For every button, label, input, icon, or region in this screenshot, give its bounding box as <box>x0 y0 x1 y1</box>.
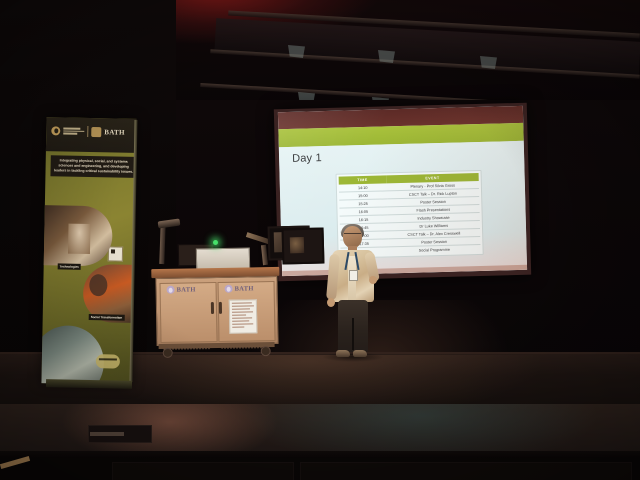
speaker-person <box>327 226 379 358</box>
stage-light-icon <box>288 45 305 58</box>
qr-code-icon <box>108 246 123 261</box>
cart-body: BATH BATH <box>155 276 278 346</box>
banner-photo-label: Social Transformation <box>89 314 125 321</box>
roller-banner: BATH Integrating physical, social, and s… <box>41 117 136 385</box>
name-badge <box>349 270 358 281</box>
shoe-right <box>353 350 367 357</box>
banner-photo-label: Technologies <box>58 263 81 269</box>
banner-footer-logo-icon <box>96 354 120 368</box>
bath-crest-icon <box>225 285 233 293</box>
banner-strapline: Integrating physical, social, and system… <box>50 155 136 178</box>
stage-front-lip <box>0 451 640 458</box>
bath-wordmark: BATH <box>235 285 254 292</box>
bath-logo-left-icon: BATH <box>167 285 196 294</box>
hand-right <box>369 276 377 284</box>
wall-vent-bar <box>90 432 124 436</box>
cell-event: Social Programme <box>388 245 481 255</box>
bath-wordmark: BATH <box>104 128 125 136</box>
hand-left <box>327 298 335 307</box>
bath-logo-right-icon: BATH <box>225 284 254 293</box>
banner-photo-lab <box>41 205 112 266</box>
stage-base-panel <box>112 462 294 480</box>
stage-light-icon <box>480 56 497 69</box>
head <box>343 226 362 248</box>
banner-header: BATH <box>46 117 137 153</box>
stage-light-icon <box>378 50 395 63</box>
lighting-rig-band <box>214 18 640 76</box>
logo-divider <box>87 126 88 137</box>
bath-crest-icon <box>167 286 175 294</box>
cart-door-handle-right[interactable] <box>219 302 222 314</box>
cart-door-handle-left[interactable] <box>211 302 214 314</box>
slide-title: Day 1 <box>292 152 322 165</box>
stage-base-panel <box>300 462 632 480</box>
glasses-icon <box>344 233 361 237</box>
shoe-left <box>336 350 350 357</box>
leg-separation <box>352 318 354 350</box>
bath-wordmark: BATH <box>177 286 196 293</box>
secondary-display <box>282 227 325 264</box>
banner-strapline-text: Integrating physical, social, and system… <box>53 158 133 175</box>
bath-crest-icon <box>91 127 101 137</box>
power-led-indicator-icon[interactable] <box>213 240 218 245</box>
auditorium-scene: BATH Day 1 TIME EVENT 14:10 Plenary - Pr… <box>0 0 640 480</box>
cart-notice-sheet <box>229 299 258 333</box>
banner-base-stand <box>46 379 132 389</box>
centre-wordmark <box>63 128 84 135</box>
centre-seal-icon <box>51 126 60 135</box>
banner-photo-city <box>41 325 104 385</box>
banner-logos: BATH <box>51 125 125 137</box>
av-lectern-cart: BATH BATH <box>155 267 276 355</box>
